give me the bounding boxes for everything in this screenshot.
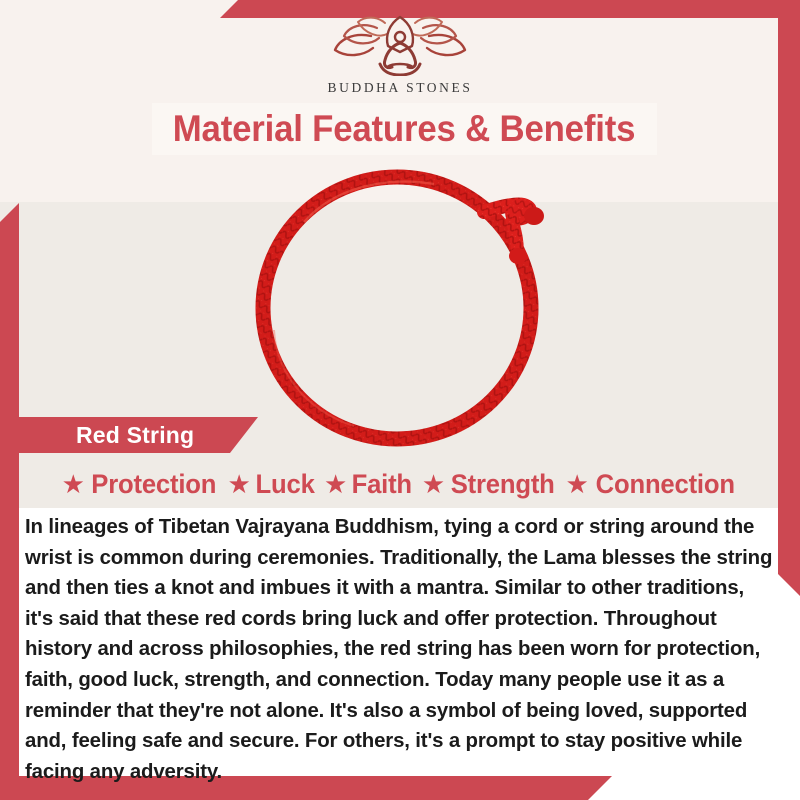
benefit-faith: ★ Faith [324,469,414,500]
title-banner: Material Features & Benefits [152,103,657,155]
brand-logo: BUDDHA STONES [0,14,800,96]
description-text: In lineages of Tibetan Vajrayana Buddhis… [25,512,777,787]
star-icon: ★ [324,471,347,497]
brand-name: BUDDHA STONES [328,80,473,96]
benefit-label: Faith [352,469,412,500]
star-icon: ★ [566,471,589,497]
benefits-list: ★ Protection ★ Luck ★ Faith ★ Strength ★… [19,464,781,504]
left-accent-bar [0,203,19,778]
page-title: Material Features & Benefits [173,108,635,150]
benefit-strength: ★ Strength [422,469,558,500]
benefit-luck: ★ Luck [227,469,316,500]
lotus-meditation-figure-icon [325,14,475,76]
material-features-infographic: BUDDHA STONES Material Features & Benefi… [0,0,800,800]
benefit-label: Luck [255,469,314,500]
benefit-protection: ★ Protection [62,469,220,500]
benefit-label: Protection [91,469,216,500]
star-icon: ★ [227,471,250,497]
benefit-label: Strength [451,469,555,500]
star-icon: ★ [62,471,85,497]
star-icon: ★ [422,471,445,497]
benefit-connection: ★ Connection [566,469,739,500]
ribbon-label: Red String [76,422,194,449]
product-name-ribbon: Red String [18,417,258,453]
product-photo [19,160,781,450]
benefit-label: Connection [596,469,735,500]
